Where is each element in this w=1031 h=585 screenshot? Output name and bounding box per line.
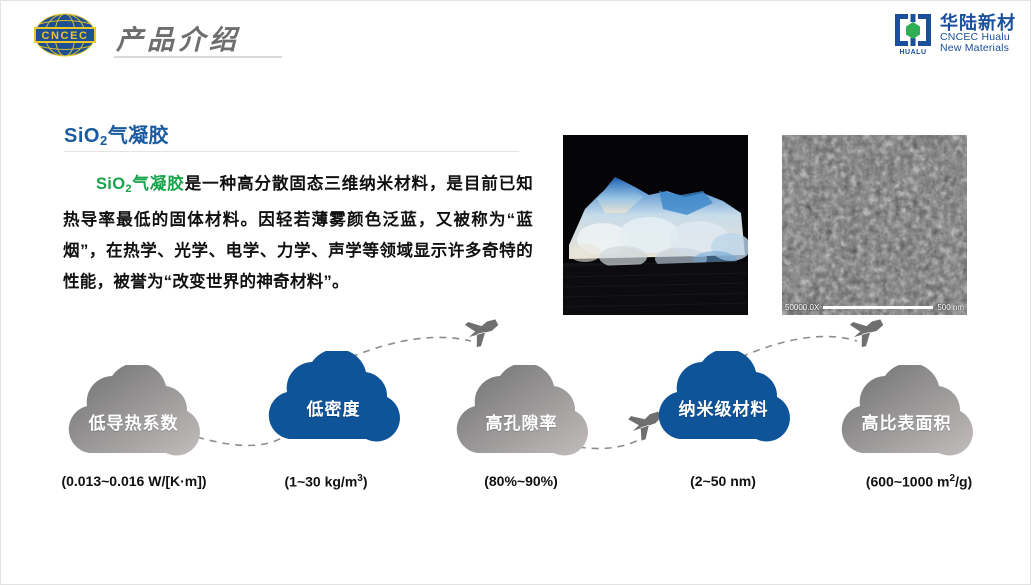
feature-cloud-5-label: 高比表面积 <box>829 365 984 461</box>
feature-cloud-3-label: 高孔隙率 <box>444 365 599 461</box>
cncec-globe-icon: CNCEC <box>23 12 107 58</box>
slide: CNCEC 产品介绍 HUALU 华陆新材 CNCEC Hualu New Ma… <box>0 0 1031 585</box>
hualu-mark-label: HUALU <box>892 49 934 56</box>
body-paragraph: SiO2气凝胶是一种高分散固态三维纳米材料，是目前已知热导率最低的固体材料。因轻… <box>63 169 533 298</box>
hualu-logo-text: 华陆新材 CNCEC Hualu New Materials <box>940 14 1016 55</box>
sem-scale-line <box>823 306 933 309</box>
feature-cloud-5[interactable]: 高比表面积 <box>829 365 984 461</box>
feature-caption-2: (1~30 kg/m3) <box>231 473 421 490</box>
sem-micrograph: 50000.0X 500 nm <box>782 135 967 315</box>
feature-captions: (0.013~0.016 W/[K·m]) (1~30 kg/m3) (80%~… <box>1 473 1031 503</box>
feature-caption-1: (0.013~0.016 W/[K·m]) <box>19 473 249 489</box>
feature-caption-4: (2~50 nm) <box>633 473 813 489</box>
sem-magnification-label: 50000.0X <box>785 303 819 312</box>
section-title: SiO2气凝胶 <box>64 119 169 148</box>
hualu-mark-icon: HUALU <box>892 12 934 56</box>
section-title-sub: 2 <box>100 133 108 148</box>
sem-scale-label: 500 nm <box>937 303 964 312</box>
feature-cloud-3[interactable]: 高孔隙率 <box>444 365 599 461</box>
feature-cloud-diagram: 低导热系数 低密度 高孔隙率 <box>1 319 1031 499</box>
feature-cloud-1-label: 低导热系数 <box>56 365 211 461</box>
hualu-logo: HUALU 华陆新材 CNCEC Hualu New Materials <box>892 12 1016 56</box>
feature-caption-2-post: ) <box>363 474 368 490</box>
feature-caption-5-post: /g) <box>955 474 972 490</box>
body-highlight-main: SiO <box>96 175 125 193</box>
feature-caption-2-pre: (1~30 kg/m <box>285 474 358 490</box>
section-divider <box>64 151 519 152</box>
hualu-en-line2: New Materials <box>940 43 1016 54</box>
aerogel-sample-photo <box>563 135 748 315</box>
sem-scale-bar: 50000.0X 500 nm <box>782 300 967 315</box>
feature-cloud-4-label: 纳米级材料 <box>646 351 801 447</box>
body-highlight-rest: 气凝胶 <box>132 175 185 193</box>
page-title: 产品介绍 <box>116 18 240 57</box>
feature-caption-5: (600~1000 m2/g) <box>819 473 1019 490</box>
body-highlight: SiO2气凝胶 <box>96 175 185 193</box>
feature-cloud-4[interactable]: 纳米级材料 <box>646 351 801 447</box>
feature-cloud-2[interactable]: 低密度 <box>256 351 411 447</box>
feature-caption-5-pre: (600~1000 m <box>866 474 950 490</box>
feature-cloud-1[interactable]: 低导热系数 <box>56 365 211 461</box>
feature-caption-3: (80%~90%) <box>426 473 616 489</box>
slide-header: CNCEC 产品介绍 HUALU 华陆新材 CNCEC Hualu New Ma… <box>1 1 1031 67</box>
header-divider <box>114 56 282 58</box>
feature-cloud-2-label: 低密度 <box>256 351 411 447</box>
section-title-rest: 气凝胶 <box>108 125 170 147</box>
section-title-main: SiO <box>64 125 100 147</box>
hualu-cn-name: 华陆新材 <box>940 14 1016 33</box>
cncec-logo-text: CNCEC <box>41 30 88 42</box>
